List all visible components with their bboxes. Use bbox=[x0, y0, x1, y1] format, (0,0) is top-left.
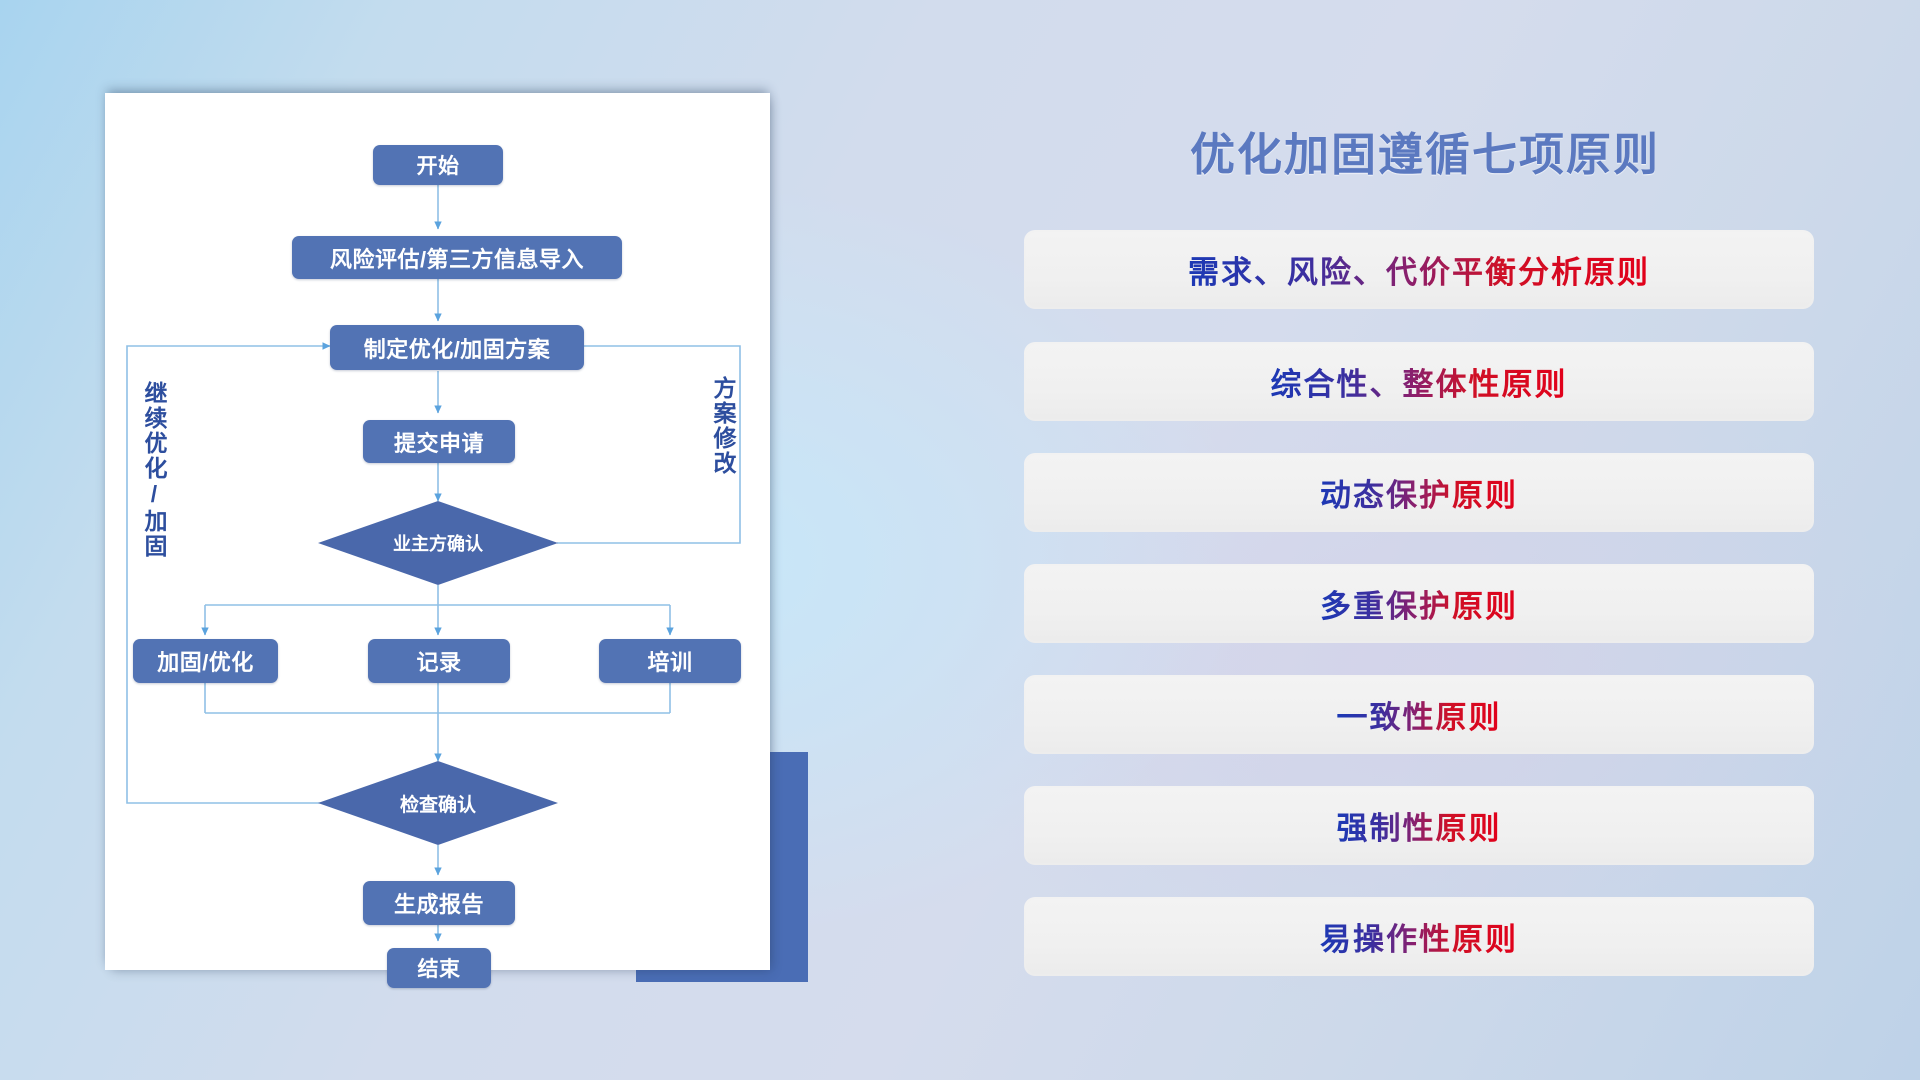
principle-label: 需求、风险、代价平衡分析原则 bbox=[1188, 247, 1650, 292]
principle-item-surface: 多重保护原则 bbox=[1026, 566, 1812, 641]
flow-node-label: 开始 bbox=[417, 150, 460, 180]
flow-node-end[interactable]: 结束 bbox=[387, 948, 491, 988]
flow-node-label: 制定优化/加固方案 bbox=[364, 332, 551, 364]
principle-item-2[interactable]: 综合性、整体性原则 bbox=[1024, 342, 1814, 421]
principle-item-6[interactable]: 强制性原则 bbox=[1024, 786, 1814, 865]
flow-node-label: 记录 bbox=[416, 645, 461, 677]
flow-node-label: 培训 bbox=[647, 645, 692, 677]
flow-edge-label-continue-optimize: 继续优化/加固 bbox=[137, 381, 171, 559]
principle-label: 易操作性原则 bbox=[1320, 914, 1518, 959]
principle-item-surface: 综合性、整体性原则 bbox=[1026, 344, 1812, 419]
flowchart-card: 开始 风险评估/第三方信息导入 制定优化/加固方案 提交申请 业主方确认 加固/… bbox=[105, 93, 770, 970]
principle-item-surface: 易操作性原则 bbox=[1026, 899, 1812, 974]
principle-label: 一致性原则 bbox=[1337, 692, 1502, 737]
principle-item-surface: 一致性原则 bbox=[1026, 677, 1812, 752]
flow-node-risk-assessment[interactable]: 风险评估/第三方信息导入 bbox=[292, 236, 622, 279]
principle-item-1[interactable]: 需求、风险、代价平衡分析原则 bbox=[1024, 230, 1814, 309]
principle-item-5[interactable]: 一致性原则 bbox=[1024, 675, 1814, 754]
flow-node-reinforce[interactable]: 加固/优化 bbox=[133, 639, 278, 683]
flow-node-start[interactable]: 开始 bbox=[373, 145, 503, 185]
flow-node-report[interactable]: 生成报告 bbox=[363, 881, 515, 925]
principle-label: 强制性原则 bbox=[1337, 803, 1502, 848]
principle-label: 综合性、整体性原则 bbox=[1271, 359, 1568, 404]
principle-item-7[interactable]: 易操作性原则 bbox=[1024, 897, 1814, 976]
flow-node-label: 业主方确认 bbox=[393, 530, 483, 556]
principle-label: 多重保护原则 bbox=[1320, 581, 1518, 626]
slide-canvas: 开始 风险评估/第三方信息导入 制定优化/加固方案 提交申请 业主方确认 加固/… bbox=[0, 0, 1920, 1080]
principle-item-4[interactable]: 多重保护原则 bbox=[1024, 564, 1814, 643]
principle-item-3[interactable]: 动态保护原则 bbox=[1024, 453, 1814, 532]
flow-node-submit[interactable]: 提交申请 bbox=[363, 420, 515, 463]
flow-edge-label-text: 方案修改 bbox=[710, 376, 736, 476]
flow-edge-label-plan-revision: 方案修改 bbox=[706, 376, 740, 476]
flow-node-label: 加固/优化 bbox=[157, 645, 254, 677]
principle-item-surface: 强制性原则 bbox=[1026, 788, 1812, 863]
flow-node-label: 风险评估/第三方信息导入 bbox=[330, 242, 584, 274]
flow-node-plan[interactable]: 制定优化/加固方案 bbox=[330, 325, 584, 370]
flow-node-label: 提交申请 bbox=[394, 426, 484, 458]
principles-panel: 优化加固遵循七项原则 需求、风险、代价平衡分析原则 综合性、整体性原则 动态保护… bbox=[1010, 100, 1840, 1000]
flow-node-training[interactable]: 培训 bbox=[599, 639, 741, 683]
principle-item-surface: 动态保护原则 bbox=[1026, 455, 1812, 530]
flow-node-label: 检查确认 bbox=[400, 790, 476, 817]
flow-node-label: 生成报告 bbox=[394, 887, 484, 919]
panel-title: 优化加固遵循七项原则 bbox=[1010, 118, 1840, 183]
flow-node-label: 结束 bbox=[418, 953, 461, 983]
principle-label: 动态保护原则 bbox=[1320, 470, 1518, 515]
principle-item-surface: 需求、风险、代价平衡分析原则 bbox=[1026, 232, 1812, 307]
flow-edge-label-text: 继续优化/加固 bbox=[141, 381, 167, 559]
flow-node-record[interactable]: 记录 bbox=[368, 639, 510, 683]
